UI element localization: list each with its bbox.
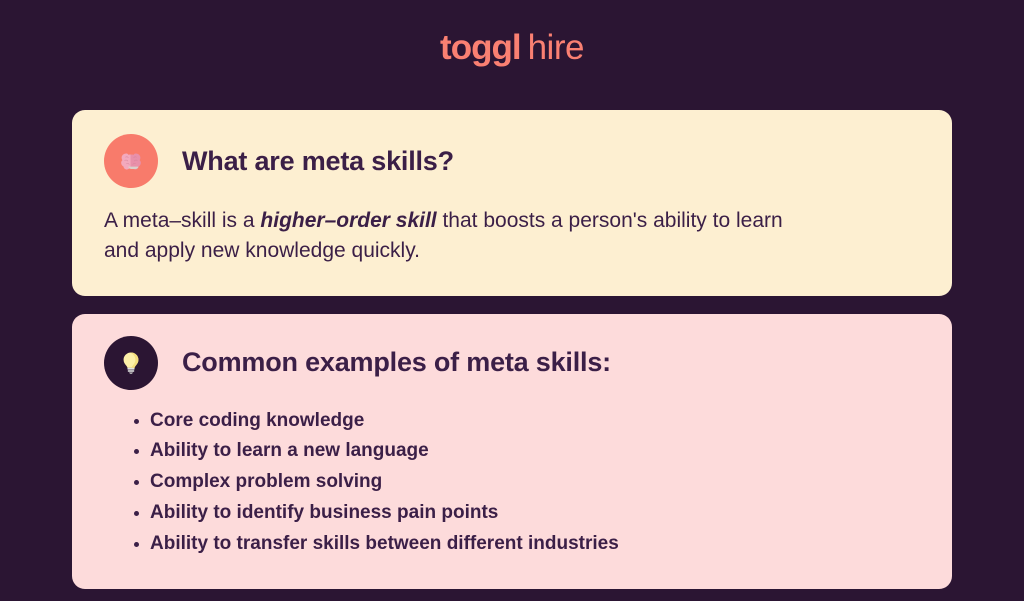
brand-name-hire: hire bbox=[528, 28, 584, 67]
brand-header: togglhire bbox=[0, 0, 1024, 68]
definition-body-prefix: A meta–skill is a bbox=[104, 209, 260, 232]
meta-skills-examples-card: Common examples of meta skills: Core cod… bbox=[72, 314, 952, 590]
definition-card-title: What are meta skills? bbox=[182, 146, 454, 177]
examples-card-header: Common examples of meta skills: bbox=[104, 336, 922, 390]
lightbulb-icon bbox=[104, 336, 158, 390]
list-item: Core coding knowledge bbox=[134, 406, 922, 437]
list-item: Ability to transfer skills between diffe… bbox=[134, 529, 922, 560]
card-stack: What are meta skills? A meta–skill is a … bbox=[72, 110, 952, 589]
definition-card-header: What are meta skills? bbox=[104, 134, 922, 188]
definition-card-body: A meta–skill is a higher–order skill tha… bbox=[104, 206, 794, 266]
list-item: Ability to learn a new language bbox=[134, 436, 922, 467]
brain-icon bbox=[104, 134, 158, 188]
brand-name-toggl: toggl bbox=[440, 28, 521, 67]
list-item: Complex problem solving bbox=[134, 467, 922, 498]
examples-card-title: Common examples of meta skills: bbox=[182, 347, 611, 378]
list-item: Ability to identify business pain points bbox=[134, 498, 922, 529]
meta-skills-list: Core coding knowledge Ability to learn a… bbox=[104, 406, 922, 560]
definition-body-emphasis: higher–order skill bbox=[260, 209, 436, 232]
meta-skills-definition-card: What are meta skills? A meta–skill is a … bbox=[72, 110, 952, 296]
